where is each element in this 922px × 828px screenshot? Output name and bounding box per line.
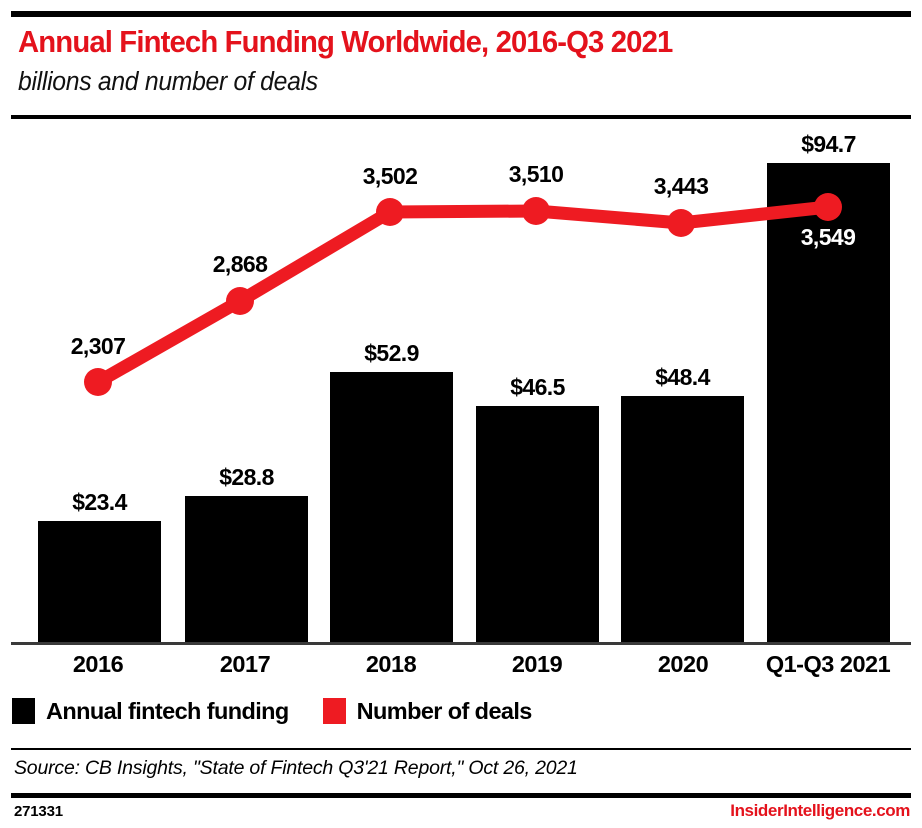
legend-item[interactable]: Annual fintech funding — [12, 698, 289, 725]
source-note: Source: CB Insights, "State of Fintech Q… — [14, 757, 578, 780]
deals-data-point — [814, 193, 842, 221]
bar-value-label: $46.5 — [476, 374, 599, 401]
infographic-page: Annual Fintech Funding Worldwide, 2016-Q… — [0, 0, 922, 828]
black-square-swatch — [12, 698, 35, 724]
bar-value-label: $28.8 — [185, 464, 308, 491]
deals-data-point — [376, 198, 404, 226]
deals-line-path — [98, 207, 828, 382]
deals-value-label: 2,868 — [180, 251, 300, 278]
red-square-swatch — [323, 698, 346, 724]
bar-value-label: $52.9 — [330, 340, 453, 367]
legend-item[interactable]: Number of deals — [323, 698, 532, 725]
bar-value-label: $23.4 — [38, 489, 161, 516]
brand-watermark[interactable]: InsiderIntelligence.com — [730, 801, 910, 821]
x-axis-label: 2019 — [457, 651, 617, 678]
x-axis-label: 2020 — [603, 651, 763, 678]
legend-label: Number of deals — [357, 698, 532, 725]
deals-data-point — [226, 287, 254, 315]
deals-value-label: 2,307 — [38, 333, 158, 360]
deals-value-label: 3,510 — [476, 161, 596, 188]
chart-plot-area: $23.4$28.8$52.9$46.5$48.4$94.7 2,3072,86… — [0, 0, 922, 700]
x-axis-label: 2016 — [18, 651, 178, 678]
deals-value-label: 3,549 — [768, 224, 888, 251]
chart-id-number: 271331 — [14, 803, 63, 820]
deals-data-point — [667, 209, 695, 237]
source-top-rule — [11, 748, 911, 750]
legend-label: Annual fintech funding — [46, 698, 289, 725]
bar-value-label: $48.4 — [621, 364, 744, 391]
deals-value-label: 3,443 — [621, 173, 741, 200]
x-axis-label: 2017 — [165, 651, 325, 678]
chart-legend: Annual fintech fundingNumber of deals — [12, 694, 566, 728]
deals-value-label: 3,502 — [330, 163, 450, 190]
source-bottom-rule — [11, 793, 911, 798]
bar-value-label: $94.7 — [767, 131, 890, 158]
x-axis-label: Q1-Q3 2021 — [748, 651, 908, 678]
x-axis-label: 2018 — [311, 651, 471, 678]
x-axis-baseline — [11, 642, 911, 645]
deals-data-point — [522, 197, 550, 225]
deals-data-point — [84, 368, 112, 396]
